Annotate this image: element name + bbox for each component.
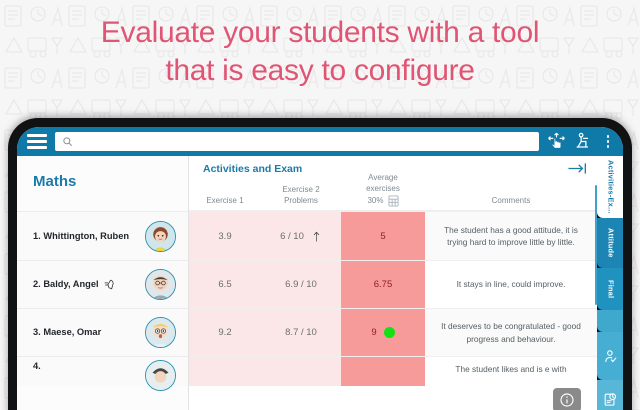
grade-grid: Activities and Exam Exercise 1 Exercise … xyxy=(189,156,597,410)
student-row-4[interactable]: 4. xyxy=(17,356,188,386)
grade-row[interactable]: 3.9 6 / 10 5 The student has a good atti… xyxy=(189,211,597,260)
calculator-icon[interactable] xyxy=(388,195,399,207)
column-subtitle-wrap: 30% xyxy=(367,195,398,207)
headline-line-2: that is easy to configure xyxy=(0,52,640,90)
column-header-comments[interactable]: Comments xyxy=(425,156,597,210)
search-input[interactable] xyxy=(78,137,532,147)
cell-exercise-1[interactable]: 3.9 xyxy=(189,212,261,260)
avatar-student-1[interactable] xyxy=(145,221,176,252)
side-tab-rail: Activities-Ex... Attitude Final xyxy=(597,156,623,410)
student-name: 3. Maese, Omar xyxy=(33,326,101,339)
column-subtitle: Problems xyxy=(284,195,318,207)
cell-exercise-1[interactable]: 6.5 xyxy=(189,261,261,308)
vertical-scrollbar[interactable] xyxy=(595,185,597,305)
arrow-to-end-icon[interactable] xyxy=(567,162,589,175)
phone-screen: Maths 1. Whittington, Ruben xyxy=(17,127,623,410)
cell-comment[interactable]: It stays in line, could improve. xyxy=(425,261,597,308)
hamburger-menu-icon[interactable] xyxy=(27,134,47,149)
cell-average[interactable]: 9 xyxy=(341,309,425,356)
promo-headline: Evaluate your students with a tool that … xyxy=(0,14,640,91)
cell-comment[interactable]: The student has a good attitude, it is t… xyxy=(425,212,597,260)
column-subtitle-wrap: Problems xyxy=(284,195,318,207)
cell-average[interactable] xyxy=(341,357,425,386)
student-name: 1. Whittington, Ruben xyxy=(33,230,129,243)
report-clipboard-icon xyxy=(603,392,618,407)
tab-label: Attitude xyxy=(606,228,615,258)
info-icon xyxy=(559,392,575,408)
cell-exercise-2[interactable]: 6.9 / 10 xyxy=(261,261,341,308)
subject-title: Maths xyxy=(17,156,188,211)
annotation-icon[interactable] xyxy=(103,278,116,291)
student-row-2[interactable]: 2. Baldy, Angel xyxy=(17,260,188,308)
avatar-student-2[interactable] xyxy=(145,269,176,300)
arrow-up-icon xyxy=(311,231,322,242)
column-header-row: Exercise 1 Exercise 2 Problems Average e… xyxy=(189,156,597,211)
green-status-dot xyxy=(384,327,395,338)
cell-comment[interactable]: It deserves to be congratulated - good p… xyxy=(425,309,597,356)
grade-row[interactable]: The student likes and is e with xyxy=(189,356,597,386)
cell-average[interactable]: 6.75 xyxy=(341,261,425,308)
cell-value: 6.75 xyxy=(374,279,393,290)
avatar-student-4[interactable] xyxy=(145,360,176,391)
tab-final[interactable]: Final xyxy=(597,268,623,310)
seating-chart-icon[interactable] xyxy=(574,132,593,151)
cell-value: 6 / 10 xyxy=(280,231,304,242)
student-name: 2. Baldy, Angel xyxy=(33,278,99,291)
headline-line-1: Evaluate your students with a tool xyxy=(0,14,640,52)
tab-reports[interactable] xyxy=(597,380,623,410)
phone-frame: Maths 1. Whittington, Ruben xyxy=(8,118,632,410)
cell-exercise-2[interactable]: 8.7 / 10 xyxy=(261,309,341,356)
app-body: Maths 1. Whittington, Ruben xyxy=(17,156,623,410)
cell-exercise-1[interactable] xyxy=(189,357,261,386)
student-row-1[interactable]: 1. Whittington, Ruben xyxy=(17,211,188,260)
search-icon xyxy=(62,136,73,147)
column-title: Exercise 1 xyxy=(206,195,243,207)
column-header-exercise-2[interactable]: Exercise 2 Problems xyxy=(261,156,341,210)
cell-value: 5 xyxy=(380,231,385,242)
tab-label: Activities-Ex... xyxy=(606,160,615,214)
cell-comment[interactable]: The student likes and is e with xyxy=(425,357,597,386)
column-title: Average exercises xyxy=(355,172,411,195)
tab-label: Final xyxy=(606,280,615,298)
student-name: 4. xyxy=(33,360,41,373)
tab-attendance[interactable] xyxy=(597,332,623,380)
grade-row[interactable]: 9.2 8.7 / 10 9 It deserves to be congrat… xyxy=(189,308,597,356)
more-vertical-icon[interactable] xyxy=(601,135,615,148)
column-subtitle: 30% xyxy=(367,195,383,207)
touch-drag-icon[interactable] xyxy=(547,132,566,151)
promo-screenshot: Evaluate your students with a tool that … xyxy=(0,0,640,410)
column-title: Comments xyxy=(492,195,531,207)
student-row-3[interactable]: 3. Maese, Omar xyxy=(17,308,188,356)
column-title: Exercise 2 xyxy=(282,184,319,196)
tab-attitude[interactable]: Attitude xyxy=(597,218,623,268)
column-header-exercise-1[interactable]: Exercise 1 xyxy=(189,156,261,210)
search-bar[interactable] xyxy=(55,132,539,151)
info-button[interactable] xyxy=(553,388,581,410)
grade-row[interactable]: 6.5 6.9 / 10 6.75 It stays in line, coul… xyxy=(189,260,597,308)
cell-average[interactable]: 5 xyxy=(341,212,425,260)
app-bar xyxy=(17,127,623,156)
avatar-student-3[interactable] xyxy=(145,317,176,348)
cell-exercise-1[interactable]: 9.2 xyxy=(189,309,261,356)
cell-value: 9 xyxy=(371,327,376,338)
tab-extra[interactable] xyxy=(597,310,623,332)
student-name-panel: Maths 1. Whittington, Ruben xyxy=(17,156,189,410)
cell-exercise-2[interactable] xyxy=(261,357,341,386)
column-header-average[interactable]: Average exercises 30% xyxy=(341,156,425,210)
cell-exercise-2[interactable]: 6 / 10 xyxy=(261,212,341,260)
attendance-person-icon xyxy=(603,349,618,364)
tab-activities-exercises[interactable]: Activities-Ex... xyxy=(597,156,623,218)
